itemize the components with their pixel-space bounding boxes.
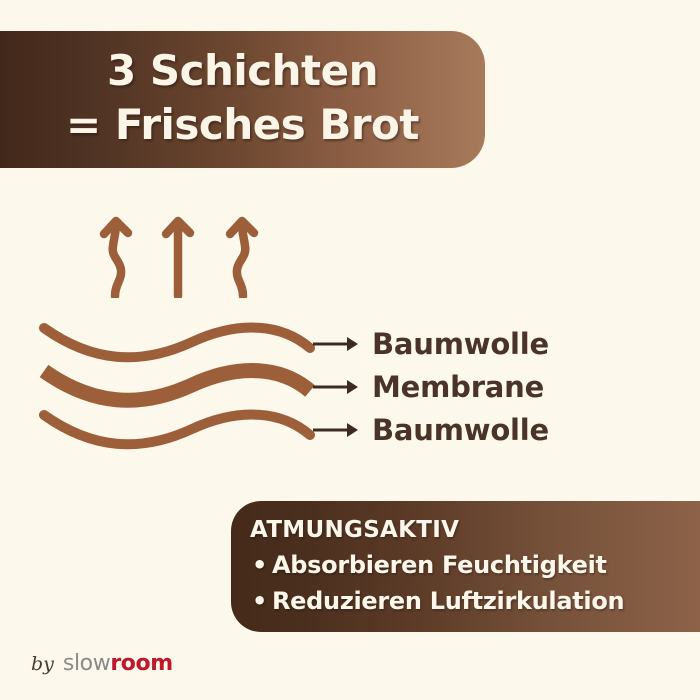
callout-heading: ATMUNGSAKTIV xyxy=(250,515,694,545)
steam-arrow-wavy-left xyxy=(104,221,128,296)
callout-bullet-2: Reduzieren Luftzirkulation xyxy=(272,583,694,619)
right-arrow-icon xyxy=(313,378,359,396)
infographic-canvas: 3 Schichten = Frisches Brot xyxy=(0,0,700,700)
fabric-wave-stack xyxy=(32,310,322,450)
wave-line-bottom xyxy=(44,415,310,445)
layer-row-3: Baumwolle xyxy=(313,410,549,450)
steam-arrow-wavy-right xyxy=(230,221,254,296)
wave-line-middle xyxy=(44,371,310,401)
brand-wordmark: slowroom xyxy=(63,652,173,676)
layer-label-3: Baumwolle xyxy=(372,414,549,446)
callout-box: ATMUNGSAKTIV Absorbieren Feuchtigkeit Re… xyxy=(231,501,700,632)
header-line-2: = Frisches Brot xyxy=(66,98,419,152)
steam-arrow-straight-middle xyxy=(166,221,190,296)
wave-line-top xyxy=(44,328,310,358)
steam-arrows-group xyxy=(95,212,265,298)
layer-row-2: Membrane xyxy=(313,367,544,407)
layer-row-1: Baumwolle xyxy=(313,324,549,364)
brand-by-text: by xyxy=(31,653,54,675)
layer-label-2: Membrane xyxy=(372,371,544,403)
header-line-1: 3 Schichten xyxy=(107,44,378,98)
right-arrow-icon xyxy=(313,335,359,353)
right-arrow-icon xyxy=(313,421,359,439)
footer-brand: by slowroom xyxy=(31,652,173,676)
callout-bullet-1: Absorbieren Feuchtigkeit xyxy=(272,547,694,583)
brand-slow-text: slow xyxy=(63,651,110,676)
brand-room-text: room xyxy=(110,651,172,676)
header-banner: 3 Schichten = Frisches Brot xyxy=(0,31,485,168)
layer-label-list: Baumwolle Membrane Baumwolle xyxy=(313,322,693,454)
layer-label-1: Baumwolle xyxy=(372,328,549,360)
callout-bullet-list: Absorbieren Feuchtigkeit Reduzieren Luft… xyxy=(250,547,694,619)
